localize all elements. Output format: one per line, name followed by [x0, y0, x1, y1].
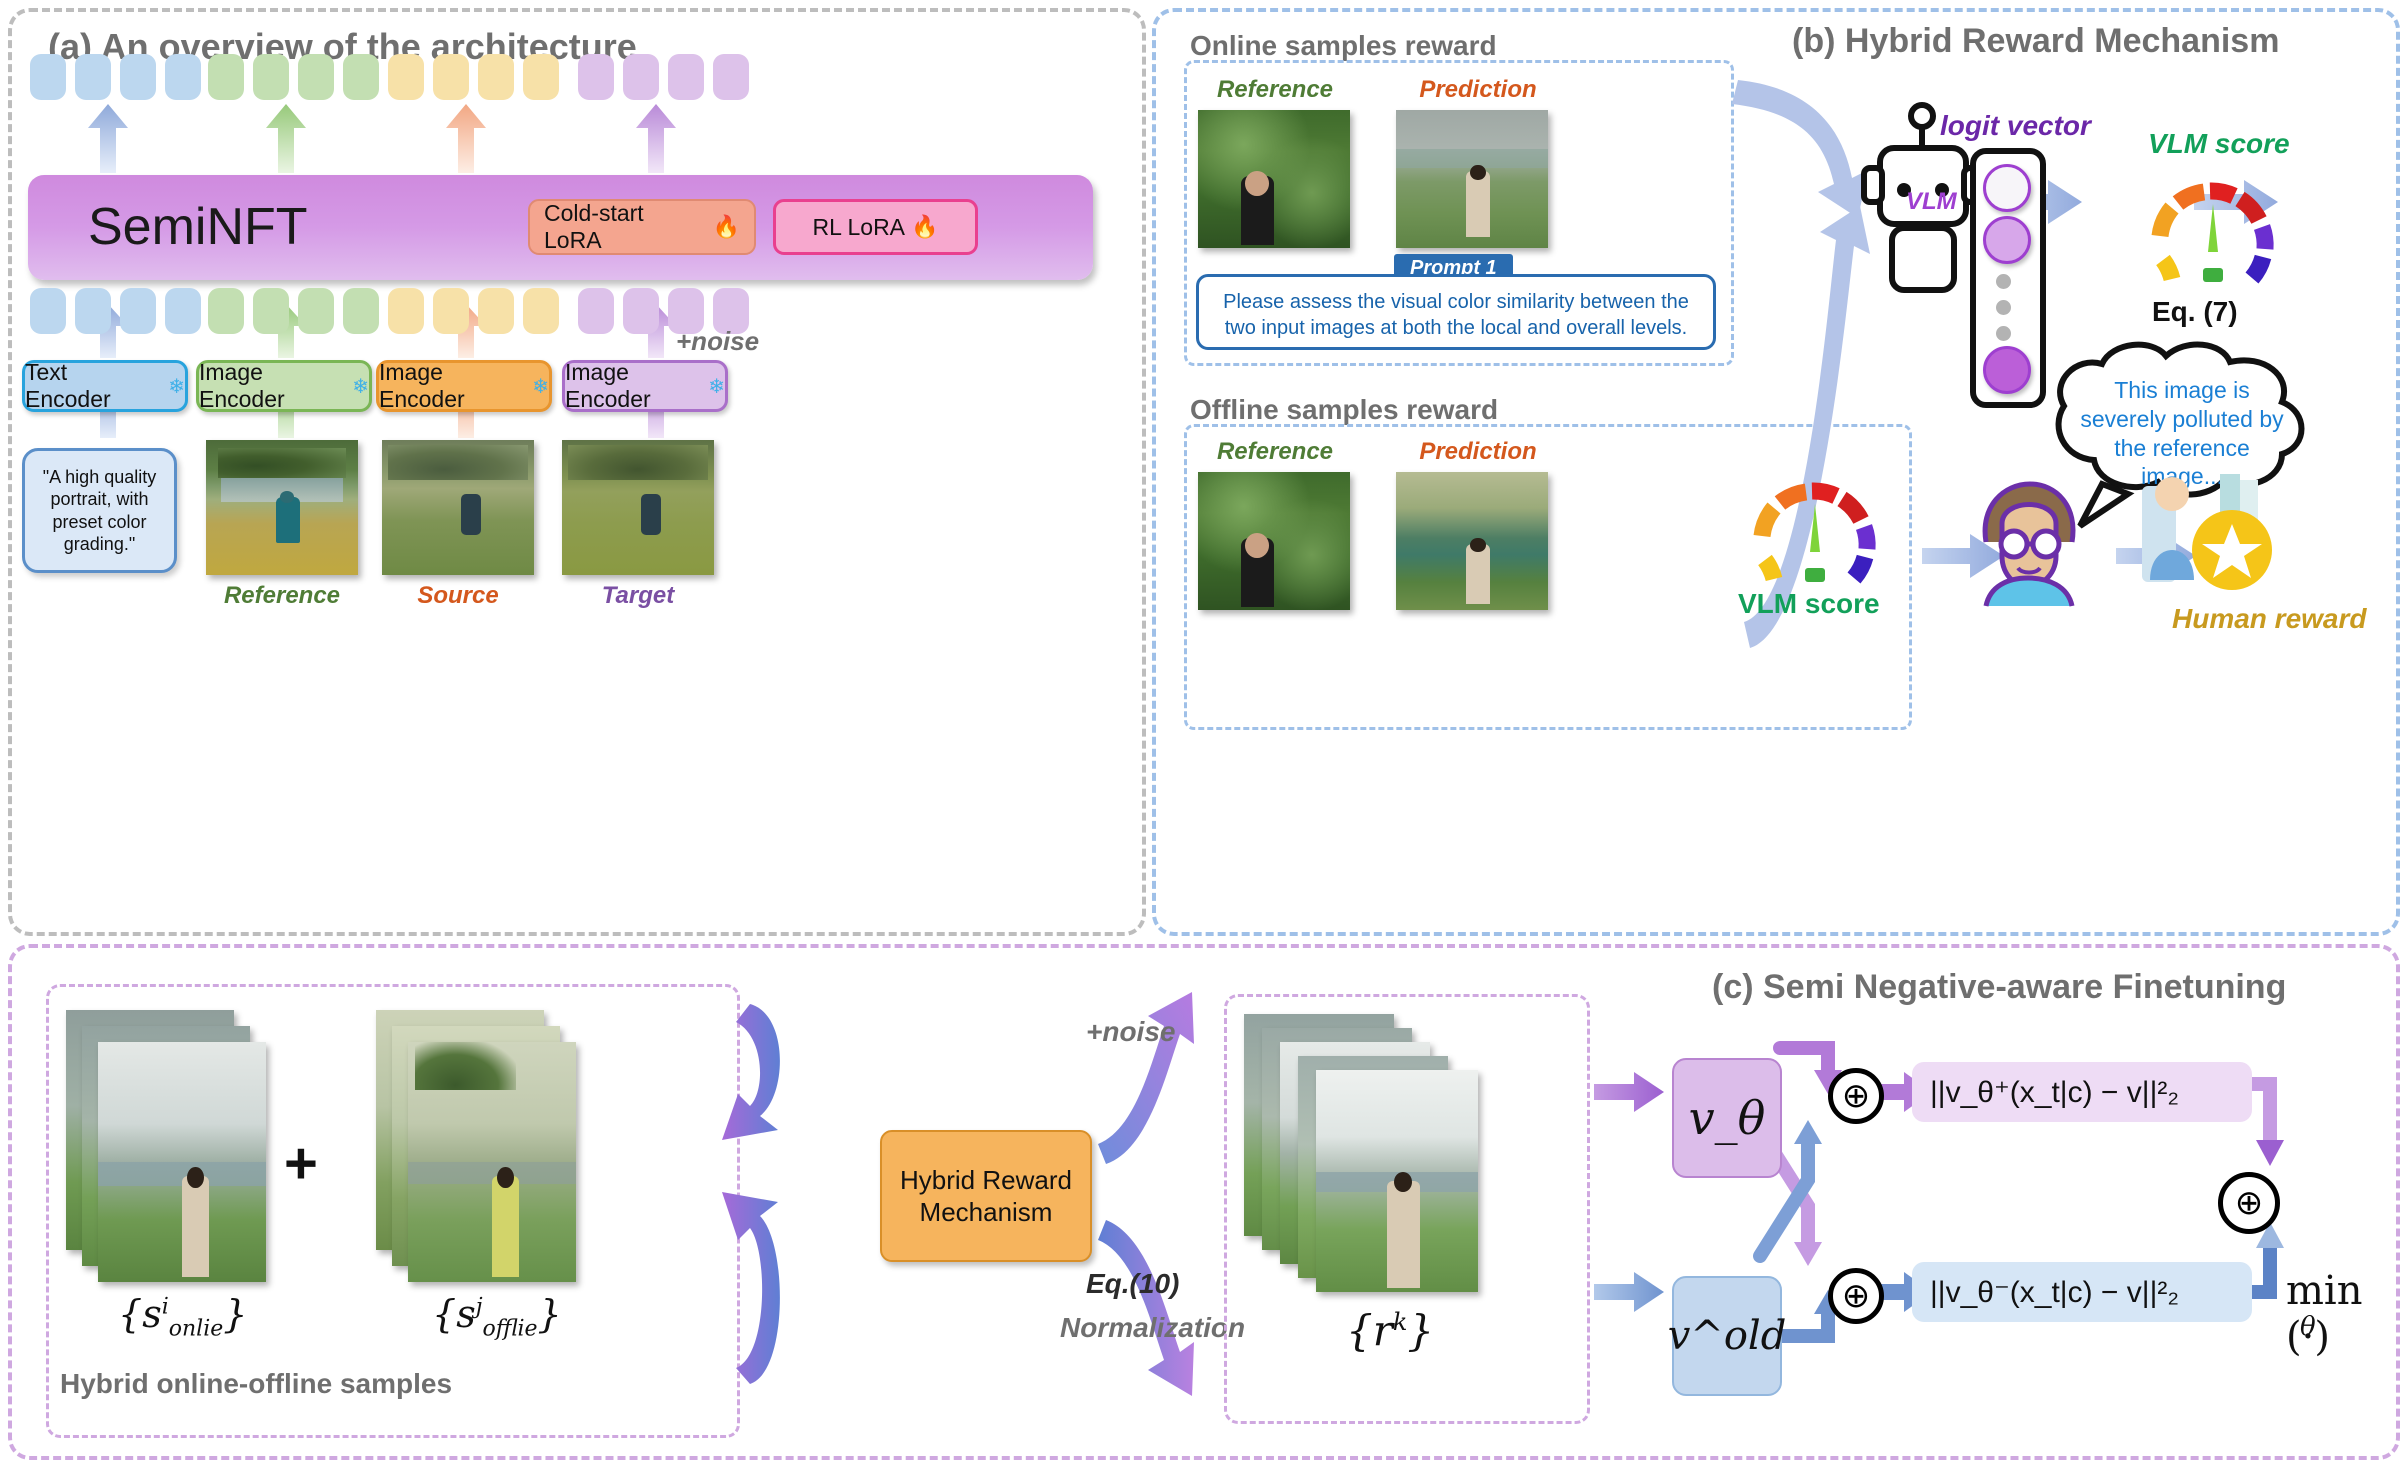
token — [75, 54, 111, 100]
token — [208, 288, 244, 334]
reward-set-label: {rk} — [1346, 1306, 1434, 1355]
online-reference-caption: Reference — [1200, 76, 1350, 104]
rl-lora-button[interactable]: RL LoRA 🔥 — [773, 199, 978, 255]
token — [208, 54, 244, 100]
token — [668, 54, 704, 100]
text-encoder-block[interactable]: Text Encoder ❄ — [22, 360, 188, 412]
snowflake-icon: ❄ — [532, 374, 549, 399]
token — [578, 54, 614, 100]
token — [298, 288, 334, 334]
thought-bubble-text: This image is severely polluted by the r… — [2076, 376, 2288, 491]
image-encoder-label: Image Encoder — [199, 359, 342, 413]
v-theta-box: v_θ — [1672, 1058, 1782, 1178]
thought-bubble: This image is severely polluted by the r… — [2024, 336, 2354, 496]
target-caption: Target — [562, 582, 714, 610]
target-photo — [562, 440, 714, 575]
text-encoder-label: Text Encoder — [25, 359, 158, 413]
positive-loss-equation: ||v_θ⁺(x_t|c) − v||²₂ — [1912, 1062, 2252, 1122]
token-row-src-out — [388, 54, 559, 100]
token — [433, 288, 469, 334]
flame-icon: 🔥 — [911, 214, 938, 240]
token — [523, 288, 559, 334]
token-row-src-in — [388, 288, 559, 334]
token — [120, 54, 156, 100]
token-row-ref-in — [208, 288, 379, 334]
cold-start-lora-label: Cold-start LoRA — [544, 200, 707, 254]
vlm-label: VLM — [1906, 188, 1957, 216]
equation-10-label: Eq.(10) — [1086, 1268, 1179, 1300]
image-encoder-source-block[interactable]: Image Encoder ❄ — [376, 360, 552, 412]
reward-set-sup: k — [1393, 1308, 1408, 1336]
offline-set-base: s — [456, 1292, 476, 1336]
source-photo — [382, 440, 534, 575]
online-set-sup: i — [162, 1294, 169, 1319]
noise-label-c: +noise — [1086, 1016, 1175, 1048]
offline-set-sup: j — [476, 1294, 483, 1319]
online-reference-photo — [1198, 110, 1350, 248]
offline-sample-photo-front — [408, 1042, 576, 1282]
snowflake-icon: ❄ — [168, 374, 185, 399]
text-prompt-box: "A high quality portrait, with preset co… — [22, 448, 177, 573]
vlm-score-label-offline: VLM score — [1738, 588, 1880, 620]
offline-prediction-photo — [1396, 472, 1548, 610]
token — [623, 288, 659, 334]
objective-subscript: θ — [2300, 1312, 2316, 1342]
token — [478, 288, 514, 334]
token — [30, 54, 66, 100]
image-encoder-target-block[interactable]: Image Encoder ❄ — [562, 360, 728, 412]
source-caption: Source — [382, 582, 534, 610]
plus-sign: + — [284, 1130, 318, 1197]
token — [30, 288, 66, 334]
token — [388, 54, 424, 100]
image-encoder-label: Image Encoder — [565, 359, 698, 413]
offline-set-sub: offlie — [483, 1317, 538, 1342]
noise-label-a: +noise — [676, 326, 759, 357]
ellipsis-dot — [1996, 326, 2011, 341]
panel-c-title: (c) Semi Negative-aware Finetuning — [1712, 968, 2286, 1007]
prompt-body: Please assess the visual color similarit… — [1196, 274, 1716, 350]
hybrid-samples-caption: Hybrid online-offline samples — [60, 1368, 452, 1400]
normalization-label: Normalization — [1060, 1312, 1245, 1344]
oplus-final-icon: ⊕ — [2218, 1172, 2280, 1234]
token — [623, 54, 659, 100]
offline-set-label: {sjofflie} — [432, 1292, 562, 1342]
offline-reference-caption: Reference — [1200, 438, 1350, 466]
logit-cell — [1983, 164, 2031, 212]
reference-caption: Reference — [206, 582, 358, 610]
online-prediction-caption: Prediction — [1398, 76, 1558, 104]
offline-reference-photo — [1198, 472, 1350, 610]
token — [713, 54, 749, 100]
token — [523, 54, 559, 100]
token — [478, 54, 514, 100]
oplus-top-icon: ⊕ — [1828, 1068, 1884, 1124]
token — [165, 54, 201, 100]
online-set-base: s — [142, 1292, 162, 1336]
logit-cell — [1983, 216, 2031, 264]
cold-start-lora-button[interactable]: Cold-start LoRA 🔥 — [528, 199, 756, 255]
hybrid-reward-mechanism-box[interactable]: Hybrid Reward Mechanism — [880, 1130, 1092, 1262]
token-row-ref-out — [208, 54, 379, 100]
token — [298, 54, 334, 100]
token — [120, 288, 156, 334]
seminft-label: SemiNFT — [88, 197, 308, 257]
token — [343, 54, 379, 100]
online-set-label: {sionlie} — [118, 1292, 247, 1342]
vlm-score-label-online: VLM score — [2148, 128, 2290, 160]
token-row-text-in — [30, 288, 201, 334]
ellipsis-dot — [1996, 300, 2011, 315]
panel-b-title: (b) Hybrid Reward Mechanism — [1792, 22, 2279, 61]
token — [388, 288, 424, 334]
reward-sample-photo-front — [1316, 1070, 1478, 1292]
token — [433, 54, 469, 100]
v-old-label: v^old — [1668, 1313, 1787, 1359]
hrm-label: Hybrid Reward Mechanism — [882, 1164, 1090, 1229]
token — [253, 54, 289, 100]
online-samples-reward-heading: Online samples reward — [1190, 30, 1497, 62]
offline-prediction-caption: Prediction — [1398, 438, 1558, 466]
token — [253, 288, 289, 334]
rl-lora-label: RL LoRA — [813, 214, 905, 241]
token — [165, 288, 201, 334]
token-row-text-out — [30, 54, 201, 100]
flame-icon: 🔥 — [713, 214, 740, 240]
image-encoder-label: Image Encoder — [379, 359, 522, 413]
online-set-sub: onlie — [169, 1317, 224, 1342]
v-old-box: v^old — [1672, 1276, 1782, 1396]
reward-set-base: r — [1373, 1306, 1393, 1355]
negative-loss-equation: ||v_θ⁻(x_t|c) − v||²₂ — [1912, 1262, 2252, 1322]
ellipsis-dot — [1996, 274, 2011, 289]
snowflake-icon: ❄ — [352, 374, 369, 399]
human-reward-label: Human reward — [2172, 602, 2292, 636]
oplus-bottom-icon: ⊕ — [1828, 1268, 1884, 1324]
token — [75, 288, 111, 334]
reference-photo — [206, 440, 358, 575]
token-row-tgt-out — [578, 54, 749, 100]
online-prediction-photo — [1396, 110, 1548, 248]
image-encoder-reference-block[interactable]: Image Encoder ❄ — [196, 360, 372, 412]
offline-samples-reward-heading: Offline samples reward — [1190, 394, 1498, 426]
logit-vector-label: logit vector — [1940, 110, 2091, 142]
snowflake-icon: ❄ — [708, 374, 725, 399]
equation-reference: Eq. (7) — [2152, 296, 2238, 328]
seminft-block: SemiNFT Cold-start LoRA 🔥 RL LoRA 🔥 — [28, 175, 1093, 280]
v-theta-label: v_θ — [1689, 1091, 1766, 1145]
token — [343, 288, 379, 334]
online-sample-photo-front — [98, 1042, 266, 1282]
token — [578, 288, 614, 334]
